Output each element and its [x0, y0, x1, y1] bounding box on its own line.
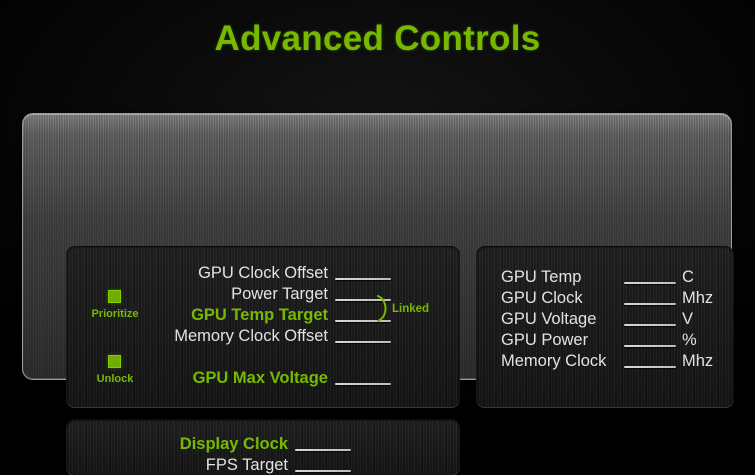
prioritize-toggle-label: Prioritize — [75, 308, 155, 321]
monitor-value-gpu-power — [624, 345, 676, 347]
row-label-gpu-temp-target: GPU Temp Target — [168, 305, 328, 325]
row-label-fps-target: FPS Target — [148, 455, 288, 475]
prioritize-toggle-square[interactable] — [108, 290, 121, 303]
monitor-label-gpu-temp: GPU Temp — [501, 267, 581, 287]
row-value-memory-clock-offset[interactable] — [335, 341, 391, 343]
row-label-display-clock: Display Clock — [148, 434, 288, 454]
monitor-label-gpu-power: GPU Power — [501, 330, 588, 350]
row-label-memory-clock-offset: Memory Clock Offset — [158, 326, 328, 346]
row-label-power-target: Power Target — [168, 284, 328, 304]
row-value-gpu-max-voltage[interactable] — [335, 383, 391, 385]
row-value-gpu-clock-offset[interactable] — [335, 278, 391, 280]
row-label-gpu-max-voltage: GPU Max Voltage — [168, 368, 328, 388]
row-value-display-clock[interactable] — [295, 449, 351, 451]
monitor-unit-gpu-clock: Mhz — [682, 288, 713, 308]
monitor-value-gpu-voltage — [624, 324, 676, 326]
row-value-fps-target[interactable] — [295, 470, 351, 472]
page-title: Advanced Controls — [0, 18, 755, 60]
unlock-toggle-label: Unlock — [75, 373, 155, 386]
monitor-unit-gpu-power: % — [682, 330, 697, 350]
monitor-unit-memory-clock: Mhz — [682, 351, 713, 371]
advanced-controls-frame: Prioritize Unlock GPU Clock Offset Power… — [22, 113, 732, 380]
unlock-toggle-square[interactable] — [108, 355, 121, 368]
linked-label: Linked — [392, 302, 429, 316]
monitor-unit-gpu-temp: C — [682, 267, 694, 287]
monitor-value-gpu-clock — [624, 303, 676, 305]
monitor-label-memory-clock: Memory Clock — [501, 351, 606, 371]
row-label-gpu-clock-offset: GPU Clock Offset — [168, 263, 328, 283]
bracket-link-icon — [377, 295, 391, 322]
monitor-unit-gpu-voltage: V — [682, 309, 693, 329]
monitor-value-memory-clock — [624, 366, 676, 368]
slide-background: Advanced Controls Prioritize Unlock GPU … — [0, 0, 755, 425]
monitor-label-gpu-clock: GPU Clock — [501, 288, 583, 308]
monitor-value-gpu-temp — [624, 282, 676, 284]
monitor-label-gpu-voltage: GPU Voltage — [501, 309, 596, 329]
